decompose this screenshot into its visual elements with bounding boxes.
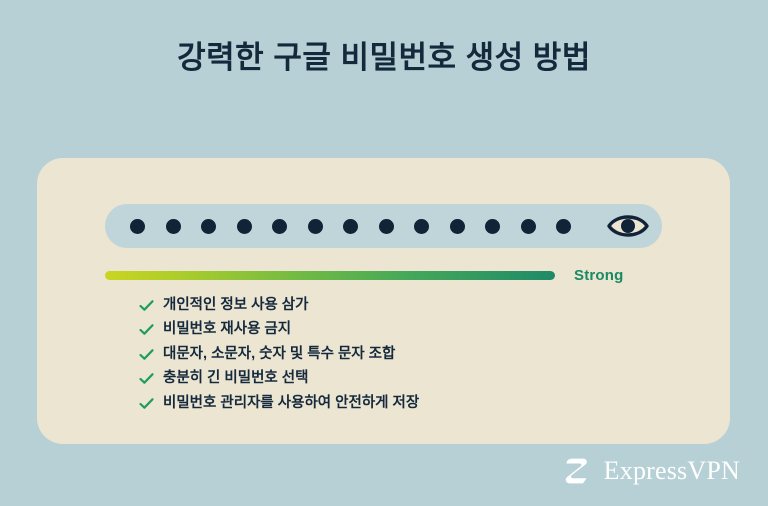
expressvpn-logo: ExpressVPN <box>559 454 740 488</box>
password-dot <box>556 219 571 234</box>
list-item: 충분히 긴 비밀번호 선택 <box>138 367 419 391</box>
eye-icon[interactable] <box>606 211 650 241</box>
list-item: 대문자, 소문자, 숫자 및 특수 문자 조합 <box>138 342 419 366</box>
list-item-label: 비밀번호 재사용 금지 <box>163 322 291 337</box>
password-dot <box>379 219 394 234</box>
check-icon <box>138 370 155 387</box>
password-masked-dots <box>130 219 571 234</box>
list-item-label: 충분히 긴 비밀번호 선택 <box>163 371 309 386</box>
expressvpn-logo-icon <box>559 454 593 488</box>
password-dot <box>130 219 145 234</box>
list-item-label: 개인적인 정보 사용 삼가 <box>163 298 309 313</box>
password-dot <box>237 219 252 234</box>
password-tips-list: 개인적인 정보 사용 삼가 비밀번호 재사용 금지 대문자, 소문자, 숫자 및… <box>138 293 419 416</box>
page-title: 강력한 구글 비밀번호 생성 방법 <box>0 39 768 78</box>
list-item-label: 비밀번호 관리자를 사용하여 안전하게 저장 <box>163 396 419 411</box>
password-card: Strong 개인적인 정보 사용 삼가 비밀번호 재사용 금지 <box>37 158 730 444</box>
check-icon <box>138 346 155 363</box>
check-icon <box>138 297 155 314</box>
password-strength-meter: Strong <box>105 264 665 286</box>
strength-bar-fill <box>105 271 555 280</box>
password-dot <box>201 219 216 234</box>
password-dot <box>521 219 536 234</box>
password-dot <box>450 219 465 234</box>
password-dot <box>166 219 181 234</box>
check-icon <box>138 395 155 412</box>
list-item: 비밀번호 관리자를 사용하여 안전하게 저장 <box>138 391 419 415</box>
password-dot <box>308 219 323 234</box>
password-input[interactable] <box>105 204 662 248</box>
list-item: 개인적인 정보 사용 삼가 <box>138 293 419 317</box>
list-item-label: 대문자, 소문자, 숫자 및 특수 문자 조합 <box>163 347 395 362</box>
password-dot <box>343 219 358 234</box>
check-icon <box>138 321 155 338</box>
strength-label: Strong <box>574 267 624 284</box>
password-dot <box>272 219 287 234</box>
list-item: 비밀번호 재사용 금지 <box>138 318 419 342</box>
password-dot <box>414 219 429 234</box>
password-dot <box>485 219 500 234</box>
brand-name: ExpressVPN <box>604 458 740 484</box>
